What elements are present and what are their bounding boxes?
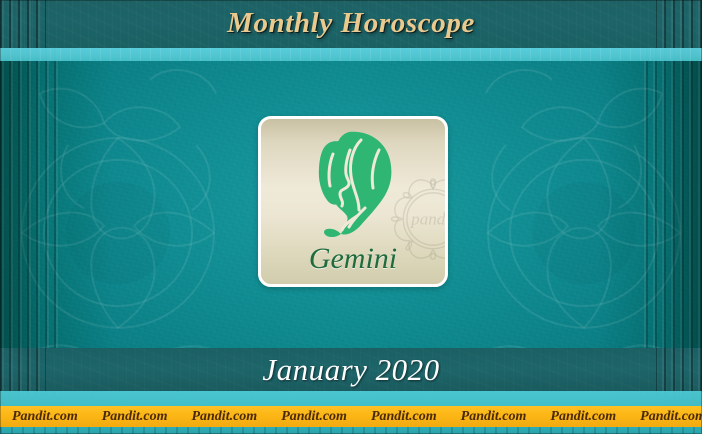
header-accent-strip xyxy=(0,48,702,61)
brand-ticker-item: Pandit.com xyxy=(538,410,628,424)
page-title: Monthly Horoscope xyxy=(0,0,702,48)
brand-ticker-item: Pandit.com xyxy=(179,410,269,424)
horoscope-date: January 2020 xyxy=(0,348,702,391)
brand-ticker: Pandit.comPandit.comPandit.comPandit.com… xyxy=(0,406,702,427)
brand-ticker-item: Pandit.com xyxy=(269,410,359,424)
brand-ticker-item: Pandit.com xyxy=(0,410,90,424)
header-band: Monthly Horoscope xyxy=(0,0,702,48)
bottom-sliver xyxy=(0,427,702,434)
zodiac-sign-name: Gemini xyxy=(261,242,445,276)
horoscope-poster: Monthly Horoscope xyxy=(0,0,702,434)
brand-ticker-item: Pandit.com xyxy=(359,410,449,424)
zodiac-card: pandit xyxy=(258,116,448,287)
brand-ticker-item: Pandit.com xyxy=(628,410,702,424)
date-band: January 2020 xyxy=(0,348,702,391)
footer-accent-strip xyxy=(0,391,702,406)
gemini-twins-icon xyxy=(287,124,419,246)
brand-ticker-item: Pandit.com xyxy=(449,410,539,424)
brand-ticker-item: Pandit.com xyxy=(90,410,180,424)
